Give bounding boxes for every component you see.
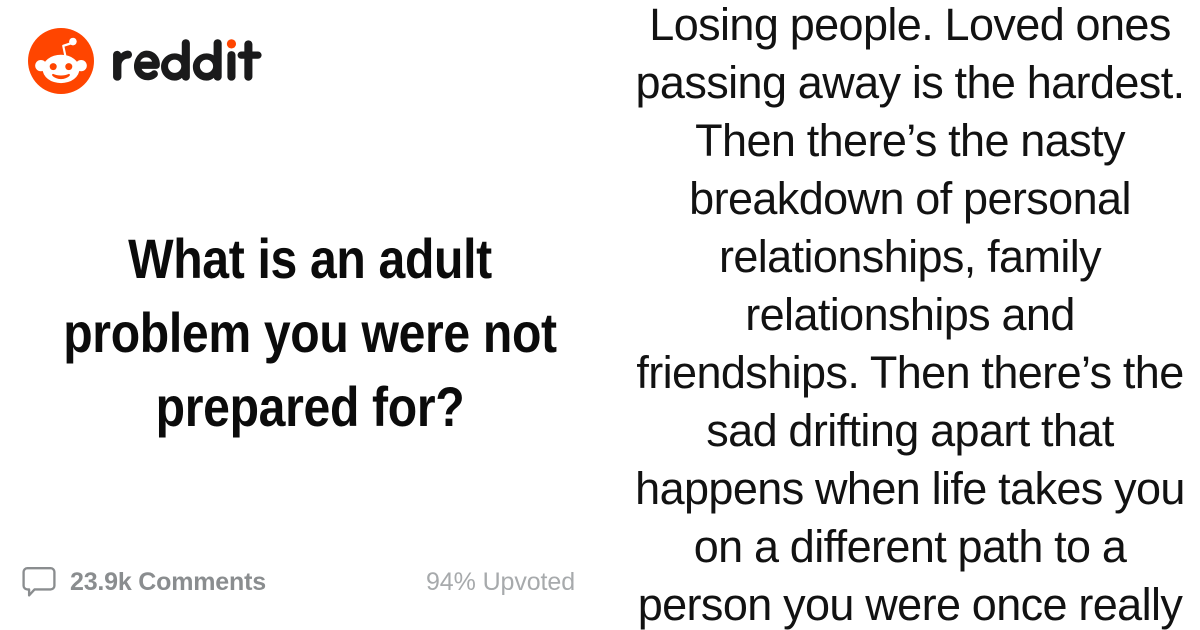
post-summary-panel: What is an adult problem you were not pr… bbox=[0, 0, 620, 630]
comments-link[interactable]: 23.9k Comments bbox=[22, 565, 266, 599]
post-meta-row: 23.9k Comments 94% Upvoted bbox=[22, 556, 592, 608]
comment-bubble-icon bbox=[22, 565, 56, 599]
comments-count-label: 23.9k Comments bbox=[70, 568, 266, 597]
post-title: What is an adult problem you were not pr… bbox=[61, 222, 560, 444]
reddit-wordmark bbox=[110, 39, 269, 83]
comment-body-text: Losing people. Loved ones passing away i… bbox=[634, 0, 1186, 630]
reddit-snoo-icon bbox=[28, 28, 94, 94]
reddit-brand-logo[interactable] bbox=[28, 28, 269, 94]
comment-quote-panel: Losing people. Loved ones passing away i… bbox=[620, 0, 1200, 630]
upvoted-percent-label: 94% Upvoted bbox=[426, 568, 575, 597]
reddit-post-card: What is an adult problem you were not pr… bbox=[0, 0, 1200, 630]
